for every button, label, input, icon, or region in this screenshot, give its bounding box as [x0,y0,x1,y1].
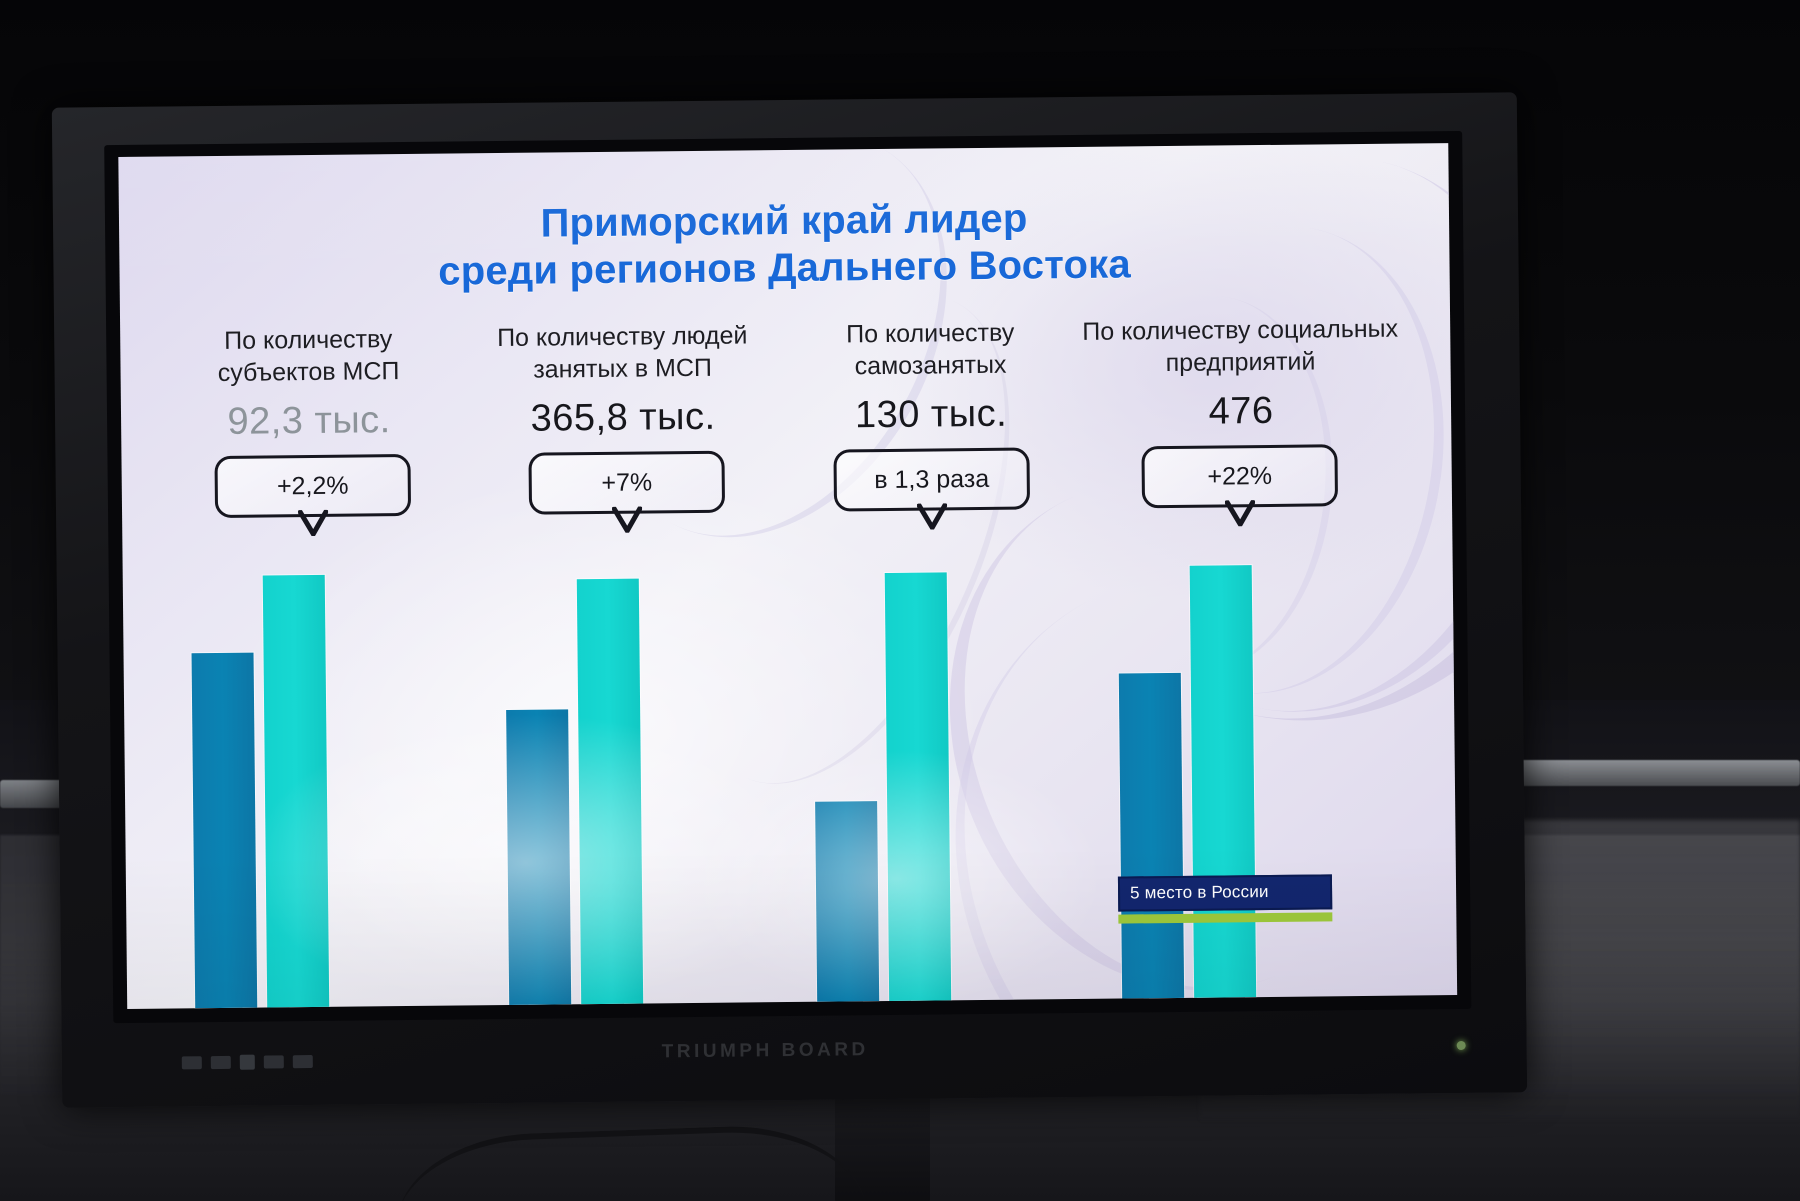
bar-previous-4 [1119,673,1184,999]
rank-badge: 5 место в России [1118,874,1332,923]
room-scene: TRIUMPH BOARD Приморский край лидер сред… [0,0,1800,1201]
column-header-2-line2: занятых в МСП [472,352,772,387]
column-header-1: По количеству субъектов МСП [158,323,459,389]
chart-column-4: По количеству социальных предприятий 476 [1075,314,1406,435]
column-header-3-line1: По количеству [780,317,1080,352]
column-value-2: 365,8 тыс. [473,395,773,441]
bar-current-4 [1190,565,1257,998]
column-value-4: 476 [1076,389,1406,435]
right-rail [1500,760,1800,786]
chart-column-1: По количеству субъектов МСП 92,3 тыс. [158,323,459,444]
column-header-4-line2: предприятий [1075,345,1405,380]
column-header-4: По количеству социальных предприятий [1075,314,1406,380]
column-header-4-line1: По количеству социальных [1075,314,1405,349]
chart-column-2: По количеству людей занятых в МСП 365,8 … [472,320,773,441]
monitor: TRIUMPH BOARD Приморский край лидер сред… [52,92,1527,1107]
column-header-3-line2: самозанятых [780,348,1080,383]
monitor-button-2[interactable] [211,1055,231,1068]
column-value-1: 92,3 тыс. [159,398,459,444]
column-header-3: По количеству самозанятых [780,317,1081,383]
monitor-button-5[interactable] [293,1055,313,1068]
monitor-control-buttons[interactable] [182,1050,342,1074]
column-header-1-line2: субъектов МСП [158,355,458,390]
column-value-3: 130 тыс. [781,392,1081,438]
column-header-1-line1: По количеству [158,323,458,358]
presentation-screen: Приморский край лидер среди регионов Дал… [118,143,1457,1009]
monitor-brand-label: TRIUMPH BOARD [662,1038,962,1067]
monitor-button-3[interactable] [240,1054,255,1069]
chart-column-3: По количеству самозанятых 130 тыс. [780,317,1081,438]
monitor-button-1[interactable] [182,1056,202,1069]
screen-glare-secondary [685,747,1108,1009]
monitor-button-4[interactable] [264,1055,284,1068]
column-header-2: По количеству людей занятых в МСП [472,320,773,386]
power-led-icon [1457,1041,1466,1050]
column-header-2-line1: По количеству людей [472,320,772,355]
rank-badge-label: 5 место в России [1118,874,1332,911]
